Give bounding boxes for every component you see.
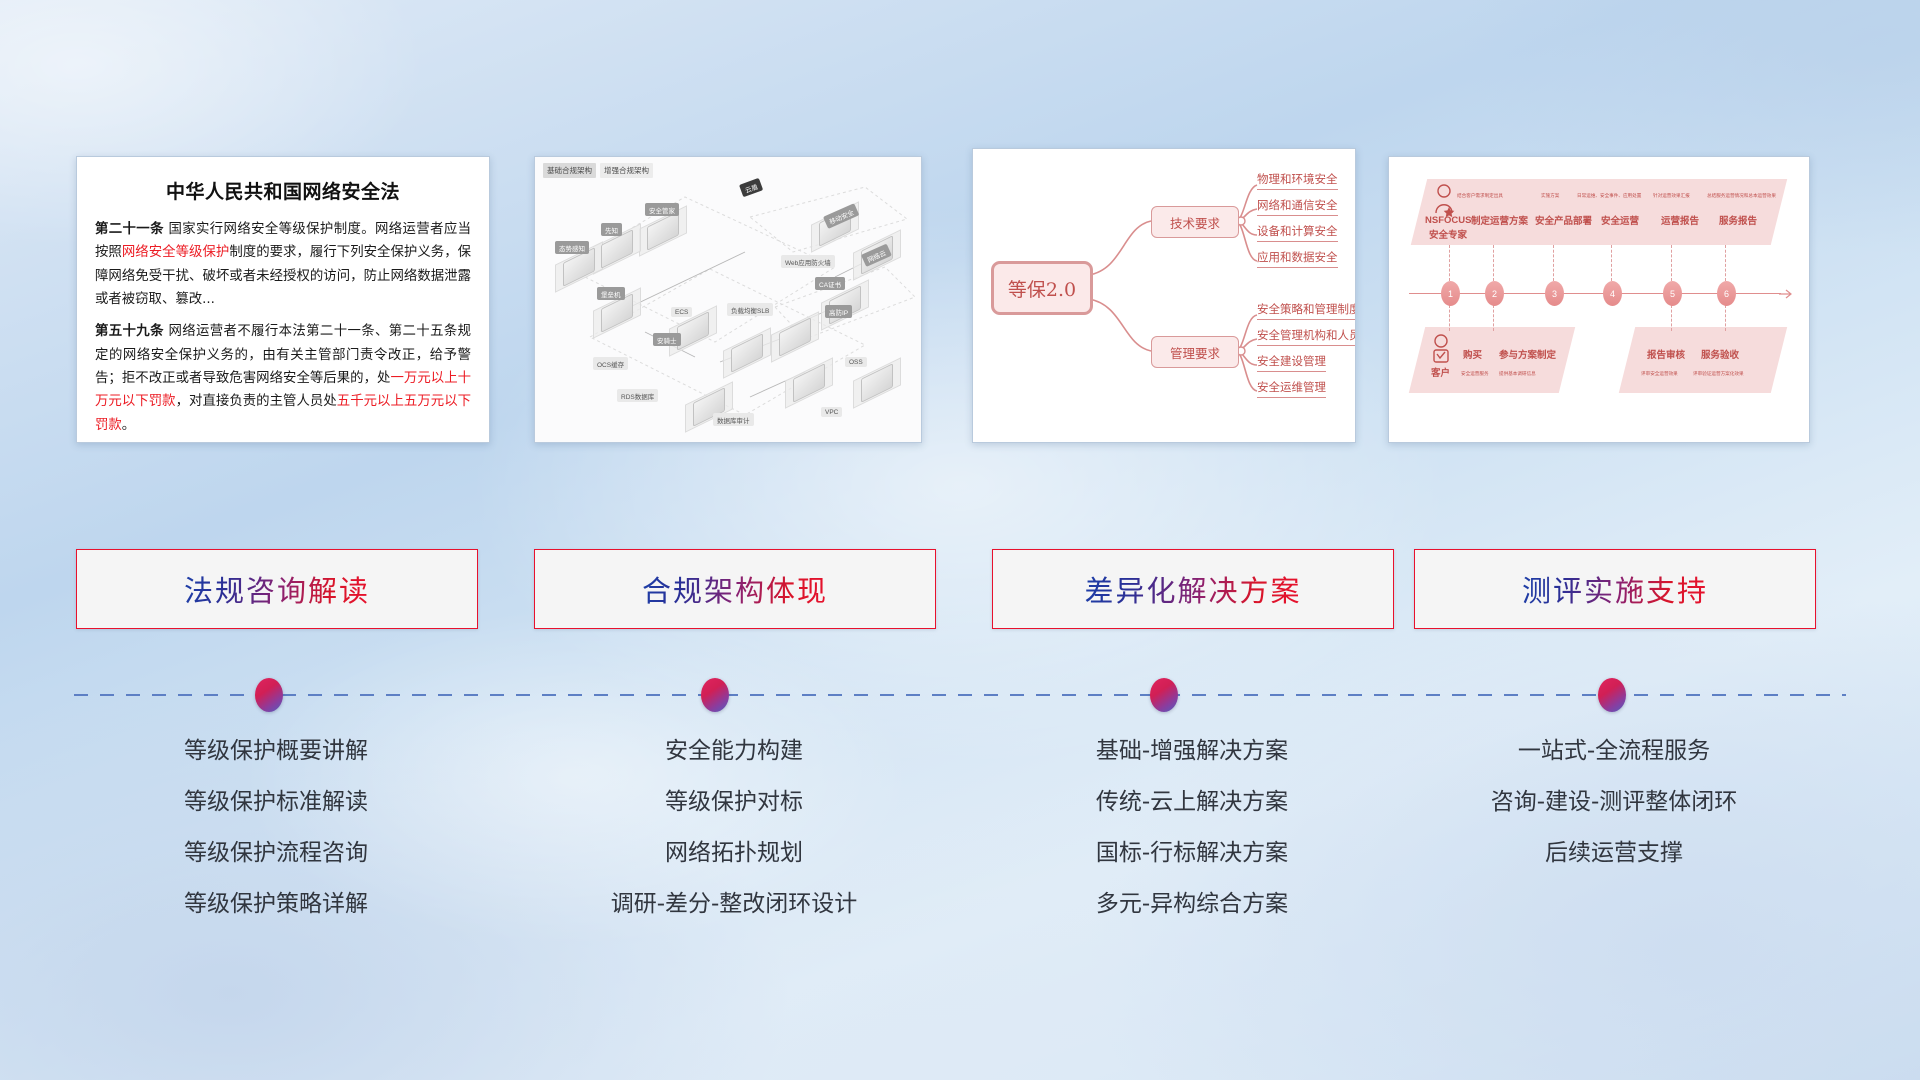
- column-list-2: 安全能力构建 等级保护对标 网络拓扑规划 调研-差分-整改闭环设计: [534, 740, 934, 944]
- column-list-3: 基础-增强解决方案 传统-云上解决方案 国标-行标解决方案 多元-异构综合方案: [992, 740, 1392, 944]
- timeline-node-3[interactable]: [1150, 678, 1178, 712]
- list-item: 等级保护概要讲解: [76, 740, 476, 763]
- column-list-4: 一站式-全流程服务 咨询-建设-测评整体闭环 后续运营支撑: [1414, 740, 1814, 893]
- list-item: 多元-异构综合方案: [992, 893, 1392, 916]
- headline-box-regulation-consulting[interactable]: 法规咨询解读: [76, 549, 478, 629]
- headline-box-compliance-architecture[interactable]: 合规架构体现: [534, 549, 936, 629]
- list-item: 传统-云上解决方案: [992, 791, 1392, 814]
- headline-label: 测评实施支持: [1522, 568, 1708, 610]
- headline-label: 法规咨询解读: [184, 568, 370, 610]
- list-item: 等级保护策略详解: [76, 893, 476, 916]
- list-item: 咨询-建设-测评整体闭环: [1414, 791, 1814, 814]
- list-item: 网络拓扑规划: [534, 842, 934, 865]
- headline-label: 差异化解决方案: [1084, 568, 1301, 610]
- list-item: 国标-行标解决方案: [992, 842, 1392, 865]
- timeline-node-4[interactable]: [1598, 678, 1626, 712]
- list-item: 一站式-全流程服务: [1414, 740, 1814, 763]
- headline-box-differentiated-solution[interactable]: 差异化解决方案: [992, 549, 1394, 629]
- list-item: 调研-差分-整改闭环设计: [534, 893, 934, 916]
- timeline-node-1[interactable]: [255, 678, 283, 712]
- list-item: 基础-增强解决方案: [992, 740, 1392, 763]
- headline-box-assessment-support[interactable]: 测评实施支持: [1414, 549, 1816, 629]
- list-item: 等级保护标准解读: [76, 791, 476, 814]
- list-item: 等级保护对标: [534, 791, 934, 814]
- list-item: 后续运营支撑: [1414, 842, 1814, 865]
- process-timeline-line: [74, 694, 1846, 696]
- timeline-node-2[interactable]: [701, 678, 729, 712]
- column-list-1: 等级保护概要讲解 等级保护标准解读 等级保护流程咨询 等级保护策略详解: [76, 740, 476, 944]
- list-item: 安全能力构建: [534, 740, 934, 763]
- list-item: 等级保护流程咨询: [76, 842, 476, 865]
- headline-label: 合规架构体现: [642, 568, 828, 610]
